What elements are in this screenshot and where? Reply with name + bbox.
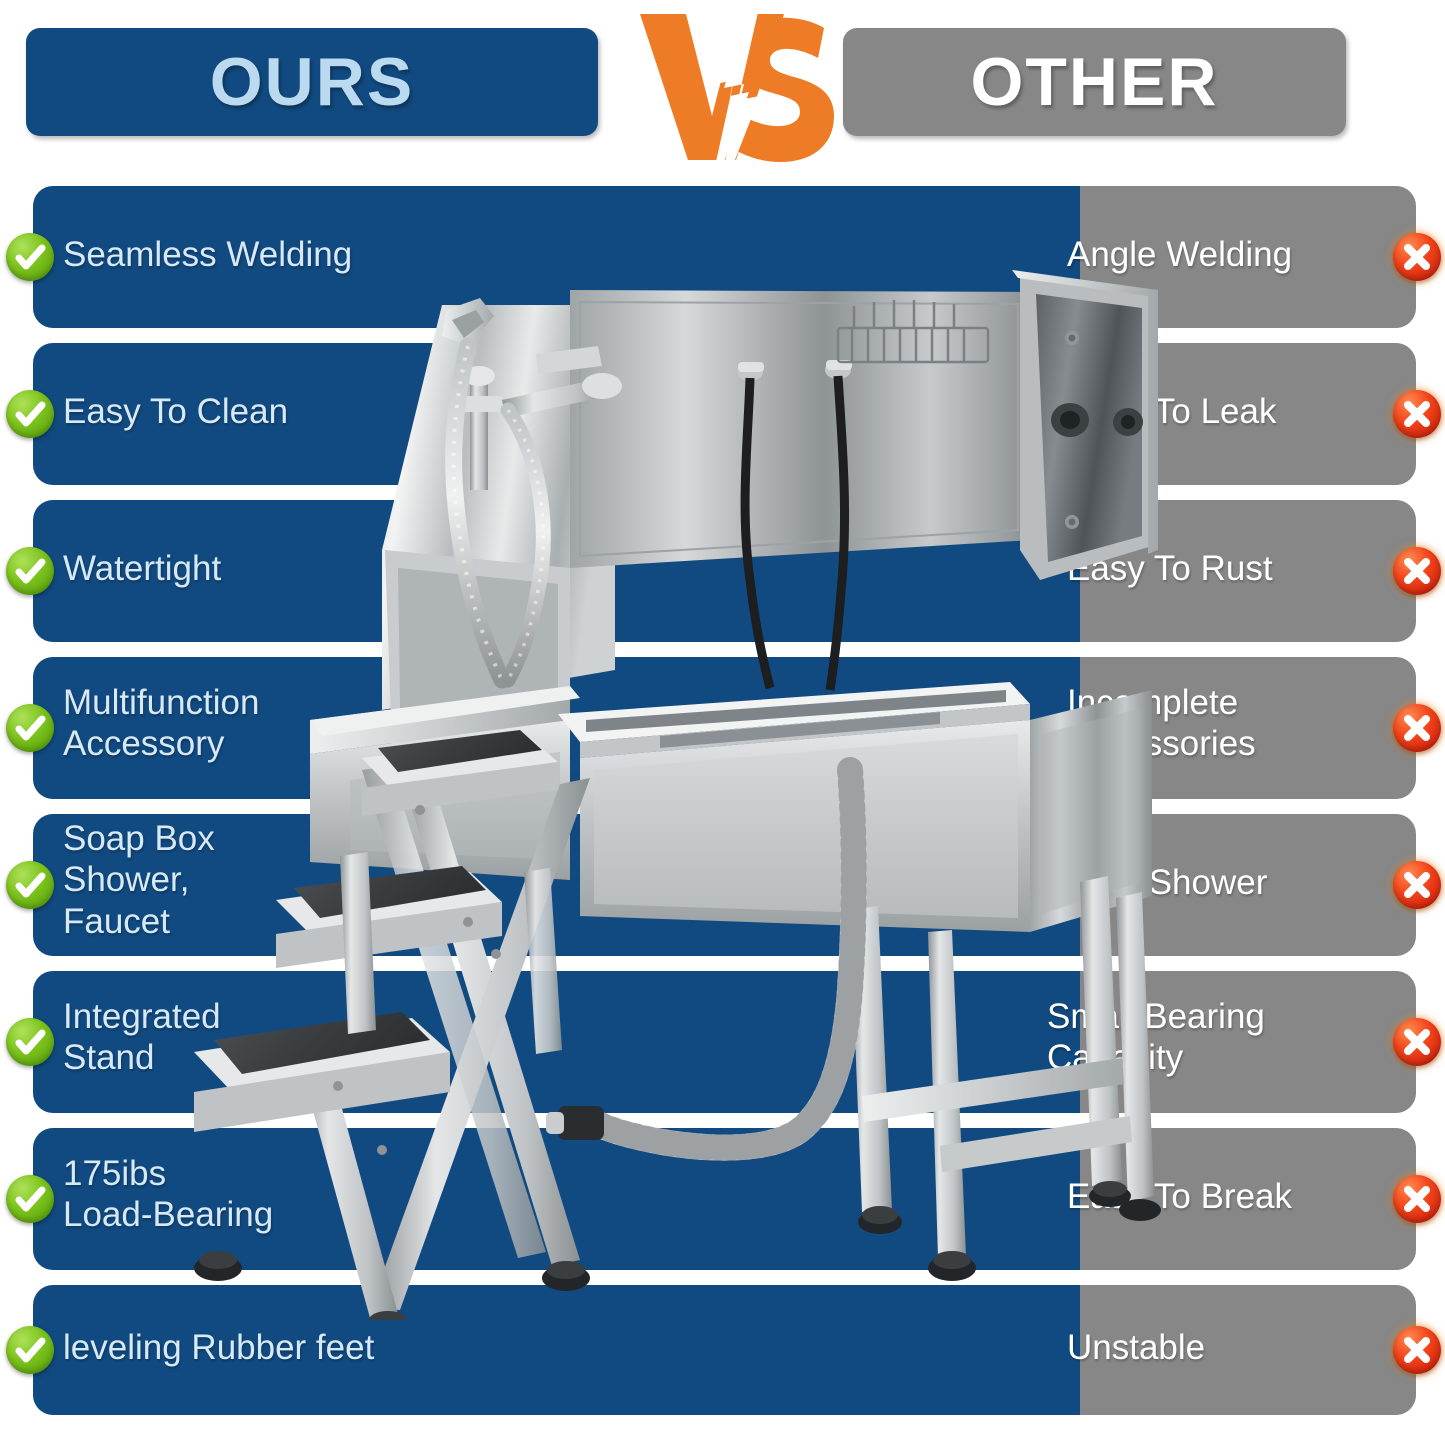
cross-circle-icon (1393, 1326, 1441, 1374)
feature-label-ours: Watertight (63, 548, 443, 589)
cross-circle-icon (1393, 861, 1441, 909)
feature-label-other: Easy To Rust (1067, 548, 1367, 589)
comparison-row: Seamless Welding Angle Welding (0, 186, 1445, 328)
header-label-ours: OURS (210, 48, 414, 116)
check-circle-icon (6, 233, 54, 281)
comparison-row: Easy To Clean Easy To Leak (0, 343, 1445, 485)
feature-label-ours: leveling Rubber feet (63, 1327, 493, 1368)
comparison-row: 175ibs Load-Bearing Easy To Break (0, 1128, 1445, 1270)
cross-circle-icon (1393, 1175, 1441, 1223)
comparison-row: Soap Box Shower, Faucet Only Shower (0, 814, 1445, 956)
feature-label-ours: Soap Box Shower, Faucet (63, 818, 443, 942)
check-circle-icon (6, 1018, 54, 1066)
feature-label-ours: Easy To Clean (63, 391, 443, 432)
cross-circle-icon (1393, 233, 1441, 281)
check-circle-icon (6, 547, 54, 595)
feature-label-other: Small Bearing Capacity (1047, 996, 1367, 1079)
check-circle-icon (6, 704, 54, 752)
cross-circle-icon (1393, 1018, 1441, 1066)
feature-label-ours: Multifunction Accessory (63, 682, 443, 765)
feature-label-other: Only Shower (1067, 862, 1367, 903)
header-card-ours: OURS (26, 28, 598, 136)
cross-circle-icon (1393, 390, 1441, 438)
comparison-row: Watertight Easy To Rust (0, 500, 1445, 642)
feature-label-ours: Integrated Stand (63, 996, 443, 1079)
vs-badge (628, 0, 858, 192)
feature-label-ours: Seamless Welding (63, 234, 443, 275)
check-circle-icon (6, 861, 54, 909)
check-circle-icon (6, 390, 54, 438)
header-label-other: OTHER (971, 48, 1219, 116)
feature-label-other: Angle Welding (1067, 234, 1367, 275)
header-card-other: OTHER (843, 28, 1346, 136)
feature-label-other: Unstable (1067, 1327, 1367, 1368)
comparison-row: Integrated Stand Small Bearing Capacity (0, 971, 1445, 1113)
cross-circle-icon (1393, 704, 1441, 752)
check-circle-icon (6, 1175, 54, 1223)
comparison-infographic: OURS OTHER (0, 0, 1445, 1430)
feature-label-other: Easy To Break (1067, 1176, 1367, 1217)
comparison-row: Multifunction Accessory Incomplete Acces… (0, 657, 1445, 799)
feature-label-other: Incomplete Accessories (1067, 682, 1367, 765)
comparison-row: leveling Rubber feet Unstable (0, 1285, 1445, 1415)
feature-label-ours: 175ibs Load-Bearing (63, 1153, 443, 1236)
cross-circle-icon (1393, 547, 1441, 595)
check-circle-icon (6, 1326, 54, 1374)
feature-label-other: Easy To Leak (1067, 391, 1367, 432)
